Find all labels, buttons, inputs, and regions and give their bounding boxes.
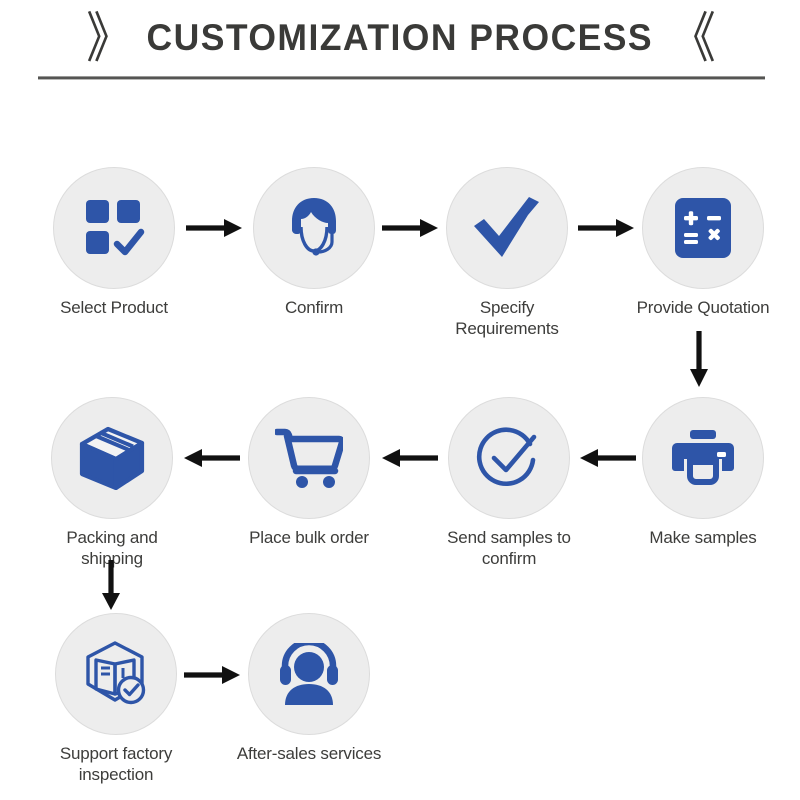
step-icon-bubble: [642, 397, 764, 519]
step-label: Confirm: [239, 297, 389, 318]
step-icon-bubble: [55, 613, 177, 735]
step-icon-bubble: [248, 397, 370, 519]
step-label: Send samples to confirm: [434, 527, 584, 569]
shopping-cart-icon: [275, 427, 343, 489]
step-label: Select Product: [39, 297, 189, 318]
step-icon-bubble: [51, 397, 173, 519]
step-node-specify-requirements[interactable]: Specify Requirements: [432, 167, 582, 339]
step-node-send-samples-to-confirm[interactable]: Send samples to confirm: [434, 397, 584, 569]
package-box-icon: [78, 426, 146, 490]
step-label: Provide Quotation: [628, 297, 778, 318]
step-icon-bubble: [448, 397, 570, 519]
step-node-make-samples[interactable]: Make samples: [628, 397, 778, 548]
right-double-chevron-icon: 《: [670, 11, 714, 65]
arrow-step7-to-step8: [184, 446, 240, 470]
step-label: Make samples: [628, 527, 778, 548]
grid-check-icon: [82, 196, 146, 260]
step-icon-bubble: [253, 167, 375, 289]
step-node-confirm[interactable]: Confirm: [239, 167, 389, 318]
step-node-support-factory-inspection[interactable]: Support factory inspection: [41, 613, 191, 785]
step-label: After-sales services: [234, 743, 384, 764]
left-double-chevron-icon: 》: [86, 11, 130, 65]
step-node-place-bulk-order[interactable]: Place bulk order: [234, 397, 384, 548]
step-icon-bubble: [248, 613, 370, 735]
title-row: 》 CUSTOMIZATION PROCESS 《: [0, 8, 800, 68]
step-node-select-product[interactable]: Select Product: [39, 167, 189, 318]
step-label: Support factory inspection: [41, 743, 191, 785]
step-node-packing-and-shipping[interactable]: Packing and shipping: [37, 397, 187, 569]
printer-icon: [671, 429, 735, 487]
title-divider: [38, 76, 765, 80]
arrow-step9-to-step10: [184, 663, 240, 687]
arrow-step2-to-step3: [382, 216, 438, 240]
step-icon-bubble: [53, 167, 175, 289]
arrow-step8-to-step9: [99, 560, 123, 610]
step-node-after-sales-services[interactable]: After-sales services: [234, 613, 384, 764]
checkmark-icon: [472, 195, 542, 261]
page-header: 》 CUSTOMIZATION PROCESS 《: [0, 0, 800, 92]
arrow-step3-to-step4: [578, 216, 634, 240]
arrow-step6-to-step7: [382, 446, 438, 470]
page-title: CUSTOMIZATION PROCESS: [147, 17, 654, 59]
support-person-icon: [275, 643, 343, 705]
headset-agent-icon: [280, 194, 348, 262]
arrow-step5-to-step6: [580, 446, 636, 470]
arrow-step4-to-step5: [687, 331, 711, 387]
step-icon-bubble: [642, 167, 764, 289]
calculator-icon: [673, 196, 733, 260]
factory-inspection-icon: [82, 640, 150, 708]
step-node-provide-quotation[interactable]: Provide Quotation: [628, 167, 778, 318]
arrow-step1-to-step2: [186, 216, 242, 240]
circle-check-icon: [475, 424, 543, 492]
step-icon-bubble: [446, 167, 568, 289]
step-label: Specify Requirements: [432, 297, 582, 339]
step-label: Place bulk order: [234, 527, 384, 548]
